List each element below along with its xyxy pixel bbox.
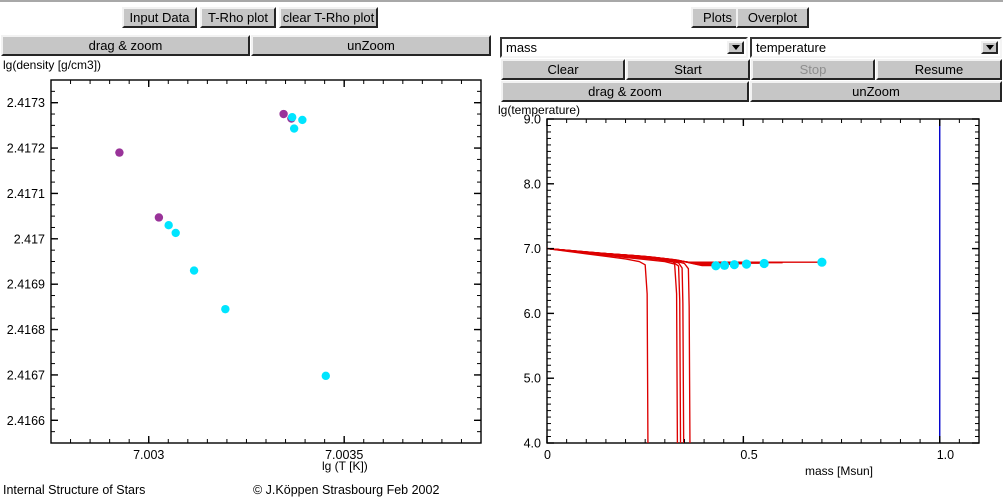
- x-axis-select-value: mass: [506, 40, 537, 55]
- right-unzoom-button[interactable]: unZoom: [750, 81, 1002, 102]
- svg-text:0: 0: [544, 448, 551, 462]
- chevron-down-icon[interactable]: [727, 41, 744, 54]
- y-axis-select-value: temperature: [756, 40, 826, 55]
- svg-text:2.4167: 2.4167: [7, 368, 45, 382]
- x-axis-select[interactable]: mass: [500, 37, 748, 58]
- left-chart-xlabel: lg (T [K]): [322, 459, 368, 473]
- app-title: Internal Structure of Stars: [3, 483, 145, 497]
- svg-text:7.003: 7.003: [133, 448, 164, 462]
- application-window: Input Data T-Rho plot clear T-Rho plot d…: [0, 0, 1003, 503]
- svg-text:7.0: 7.0: [524, 242, 541, 256]
- svg-text:2.4171: 2.4171: [7, 187, 45, 201]
- svg-text:8.0: 8.0: [524, 177, 541, 191]
- copyright-text: © J.Köppen Strasbourg Feb 2002: [253, 483, 439, 497]
- svg-text:2.4173: 2.4173: [7, 96, 45, 110]
- left-unzoom-button[interactable]: unZoom: [251, 35, 491, 56]
- svg-text:2.4166: 2.4166: [7, 414, 45, 428]
- svg-text:6.0: 6.0: [524, 307, 541, 321]
- clear-t-rho-plot-button[interactable]: clear T-Rho plot: [279, 7, 378, 28]
- svg-text:2.4172: 2.4172: [7, 142, 45, 156]
- input-data-button[interactable]: Input Data: [122, 7, 197, 28]
- t-rho-plot-button[interactable]: T-Rho plot: [200, 7, 276, 28]
- left-drag-zoom-button[interactable]: drag & zoom: [1, 35, 250, 56]
- right-drag-zoom-button[interactable]: drag & zoom: [501, 81, 749, 102]
- svg-text:5.0: 5.0: [524, 372, 541, 386]
- clear-button[interactable]: Clear: [501, 59, 625, 80]
- right-chart-xlabel: mass [Msun]: [805, 464, 873, 478]
- svg-text:2.4169: 2.4169: [7, 278, 45, 292]
- svg-text:9.0: 9.0: [524, 113, 541, 127]
- structure-plot-canvas[interactable]: 00.51.04.05.06.07.08.09.0: [500, 100, 1003, 480]
- chevron-down-icon[interactable]: [981, 41, 998, 54]
- stop-button[interactable]: Stop: [751, 59, 875, 80]
- top-divider: [0, 0, 1003, 2]
- resume-button[interactable]: Resume: [876, 59, 1002, 80]
- svg-text:2.417: 2.417: [14, 232, 45, 246]
- svg-text:2.4168: 2.4168: [7, 323, 45, 337]
- start-button[interactable]: Start: [626, 59, 750, 80]
- t-rho-plot-canvas[interactable]: 7.0037.00352.41662.41672.41682.41692.417…: [0, 62, 500, 482]
- svg-text:4.0: 4.0: [524, 437, 541, 451]
- overplot-button[interactable]: Overplot: [736, 7, 809, 28]
- svg-text:1.0: 1.0: [937, 448, 954, 462]
- svg-text:0.5: 0.5: [740, 448, 757, 462]
- y-axis-select[interactable]: temperature: [750, 37, 1002, 58]
